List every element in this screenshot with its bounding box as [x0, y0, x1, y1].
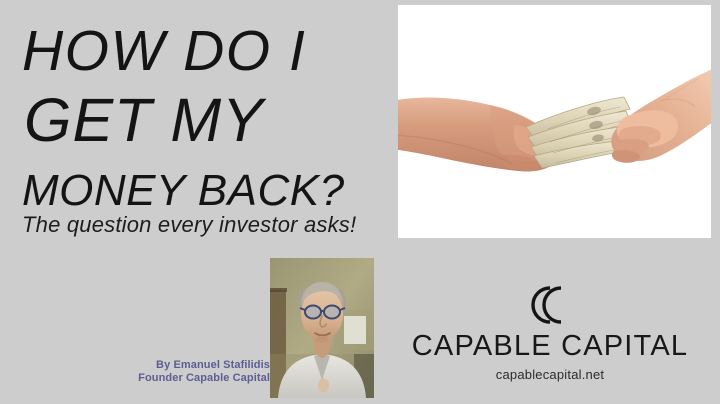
author-byline: By Emanuel Stafilidis Founder Capable Ca…: [112, 359, 270, 385]
money-exchange-photo: [398, 5, 711, 238]
author-portrait-photo: [270, 258, 374, 398]
headline-line-3: MONEY BACK?: [22, 169, 345, 213]
double-c-monogram-icon: [519, 282, 581, 328]
byline-role: Founder Capable Capital: [112, 372, 270, 385]
presentation-slide: HOW DO I GET MY MONEY BACK? The question…: [0, 0, 720, 404]
headline-subtitle: The question every investor asks!: [22, 214, 356, 236]
brand-website-url: capablecapital.net: [400, 368, 700, 381]
brand-logo-lockup: CAPABLE CAPITAL capablecapital.net: [400, 282, 700, 381]
money-exchange-illustration: [398, 5, 711, 238]
brand-wordmark: CAPABLE CAPITAL: [400, 332, 700, 361]
headline-line-1: HOW DO I: [22, 23, 306, 80]
byline-author: By Emanuel Stafilidis: [112, 359, 270, 372]
author-portrait-illustration: [270, 258, 374, 398]
headline-block: HOW DO I GET MY MONEY BACK? The question…: [0, 0, 400, 240]
headline-line-2: GET MY: [24, 90, 264, 151]
